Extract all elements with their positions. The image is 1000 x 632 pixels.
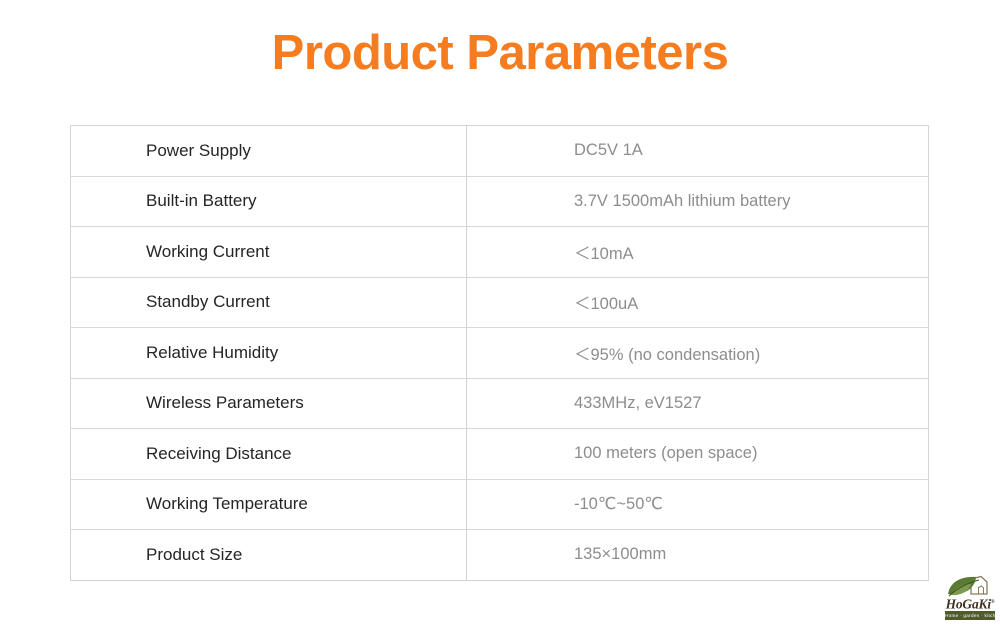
page-title: Product Parameters — [0, 27, 1000, 81]
parameter-value: ＜95% (no condensation) — [467, 328, 929, 379]
table-row: Wireless Parameters 433MHz, eV1527 — [71, 378, 929, 429]
parameter-value: ＜100uA — [467, 277, 929, 328]
table-row: Working Temperature -10℃~50℃ — [71, 479, 929, 530]
parameter-value: DC5V 1A — [467, 126, 929, 177]
table-row: Built-in Battery 3.7V 1500mAh lithium ba… — [71, 176, 929, 227]
parameter-label: Relative Humidity — [71, 328, 467, 379]
parameter-label: Product Size — [71, 530, 467, 581]
parameter-label: Standby Current — [71, 277, 467, 328]
parameter-value: -10℃~50℃ — [467, 479, 929, 530]
parameter-label: Receiving Distance — [71, 429, 467, 480]
parameter-label: Working Temperature — [71, 479, 467, 530]
parameter-label: Built-in Battery — [71, 176, 467, 227]
table-row: Standby Current ＜100uA — [71, 277, 929, 328]
leaf-house-icon — [947, 575, 993, 598]
logo-wordmark: HoGaKi® — [944, 596, 996, 612]
parameter-label: Wireless Parameters — [71, 378, 467, 429]
logo-tagline: Home · garden · kitchen — [945, 611, 995, 620]
parameter-label: Power Supply — [71, 126, 467, 177]
parameter-value: 433MHz, eV1527 — [467, 378, 929, 429]
logo-wordmark-text: HoGaKi — [946, 597, 991, 612]
parameter-value: 100 meters (open space) — [467, 429, 929, 480]
brand-logo: HoGaKi® Home · garden · kitchen — [944, 575, 996, 627]
logo-trademark: ® — [991, 600, 995, 605]
parameter-label: Working Current — [71, 227, 467, 278]
product-parameters-table: Power Supply DC5V 1A Built-in Battery 3.… — [70, 125, 929, 581]
table-row: Receiving Distance 100 meters (open spac… — [71, 429, 929, 480]
parameter-value: ＜10mA — [467, 227, 929, 278]
table-row: Working Current ＜10mA — [71, 227, 929, 278]
table-row: Power Supply DC5V 1A — [71, 126, 929, 177]
table-row: Product Size 135×100mm — [71, 530, 929, 581]
parameter-value: 135×100mm — [467, 530, 929, 581]
parameter-value: 3.7V 1500mAh lithium battery — [467, 176, 929, 227]
table-row: Relative Humidity ＜95% (no condensation) — [71, 328, 929, 379]
